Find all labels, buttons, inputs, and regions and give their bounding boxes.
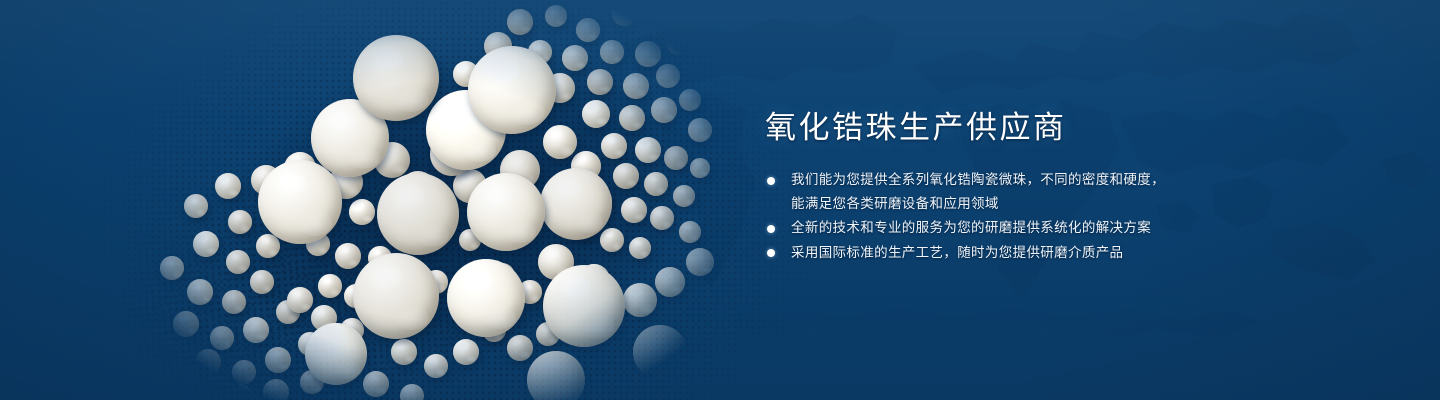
ceramic-bead [265,347,291,373]
ceramic-bead [613,163,639,189]
ceramic-bead [210,326,234,350]
ceramic-bead [215,173,241,199]
list-item-line-1: 我们能为您提供全系列氧化锆陶瓷微珠，不同的密度和硬度， [791,172,1165,187]
filled-circle-bullet-icon [767,249,775,257]
ceramic-bead [305,323,367,385]
list-item: 我们能为您提供全系列氧化锆陶瓷微珠，不同的密度和硬度， 能满足您各类研磨设备和应… [765,168,1215,215]
ceramic-bead [263,379,289,400]
banner-copy: 氧化锆珠生产供应商 我们能为您提供全系列氧化锆陶瓷微珠，不同的密度和硬度， 能满… [765,108,1215,265]
ceramic-bead [377,173,459,255]
ceramic-bead [644,172,668,196]
list-item: 全新的技术和专业的服务为您的研磨提供系统化的解决方案 [765,216,1215,240]
ceramic-bead [562,45,588,71]
ceramic-bead [507,335,533,361]
page-title: 氧化锆珠生产供应商 [765,108,1215,148]
ceramic-bead [250,270,274,294]
ceramic-bead [635,137,661,163]
ceramic-bead [655,267,685,297]
ceramic-bead [318,274,342,298]
list-item-line-1: 采用国际标准的生产工艺，随时为您提供研磨介质产品 [791,245,1123,260]
ceramic-bead [679,221,701,243]
ceramic-bead [621,197,647,223]
ceramic-bead [690,158,710,178]
ceramic-bead [222,290,246,314]
ceramic-bead [587,69,613,95]
zirconia-beads-photo [0,0,760,400]
ceramic-bead [688,118,712,142]
hero-banner: 氧化锆珠生产供应商 我们能为您提供全系列氧化锆陶瓷微珠，不同的密度和硬度， 能满… [0,0,1440,400]
ceramic-bead [228,210,252,234]
ceramic-bead [623,283,657,317]
ceramic-bead [650,206,674,230]
ceramic-bead [256,234,280,258]
ceramic-bead [453,339,479,365]
ceramic-bead [679,89,701,111]
ceramic-bead [160,256,184,280]
ceramic-bead [232,360,256,384]
ceramic-bead [651,97,677,123]
feature-list: 我们能为您提供全系列氧化锆陶瓷微珠，不同的密度和硬度， 能满足您各类研磨设备和应… [765,168,1215,264]
ceramic-bead [193,231,219,257]
ceramic-bead [656,64,680,88]
list-item: 采用国际标准的生产工艺，随时为您提供研磨介质产品 [765,241,1215,265]
ceramic-bead [400,384,424,400]
ceramic-bead [187,279,213,305]
filled-circle-bullet-icon [767,177,775,185]
ceramic-bead [467,173,545,251]
ceramic-bead [540,168,612,240]
ceramic-bead [527,351,585,400]
ceramic-bead [353,253,439,339]
ceramic-bead [228,384,252,400]
ceramic-bead [680,6,700,26]
ceramic-bead [600,228,624,252]
ceramic-bead [649,15,671,37]
ceramic-bead [600,40,624,64]
ceramic-bead [173,311,199,337]
ceramic-bead [576,18,600,42]
ceramic-bead [664,146,688,170]
ceramic-bead [667,33,689,55]
ceramic-bead [349,199,375,225]
ceramic-bead [353,35,439,121]
ceramic-bead [468,46,556,134]
ceramic-bead [543,125,577,159]
ceramic-bead [545,5,567,27]
ceramic-bead [543,265,625,347]
list-item-line-2: 能满足您各类研磨设备和应用领域 [791,192,1215,216]
ceramic-bead [363,371,389,397]
ceramic-bead [629,237,651,259]
ceramic-bead [507,9,533,35]
filled-circle-bullet-icon [767,225,775,233]
ceramic-bead [686,248,714,276]
ceramic-bead [673,185,695,207]
ceramic-bead [612,2,636,26]
ceramic-bead [424,354,448,378]
ceramic-bead [447,259,525,337]
ceramic-bead [623,73,649,99]
ceramic-bead [243,317,269,343]
ceramic-bead [258,160,342,244]
ceramic-bead [601,133,627,159]
ceramic-bead [184,194,208,218]
ceramic-bead [619,105,645,131]
ceramic-bead [195,349,221,375]
ceramic-bead [335,243,361,269]
ceramic-bead [287,287,313,313]
ceramic-bead [635,41,661,67]
ceramic-bead [226,250,250,274]
list-item-line-1: 全新的技术和专业的服务为您的研磨提供系统化的解决方案 [791,220,1151,235]
ceramic-bead [391,339,417,365]
ceramic-bead [633,325,687,379]
ceramic-bead [582,100,610,128]
